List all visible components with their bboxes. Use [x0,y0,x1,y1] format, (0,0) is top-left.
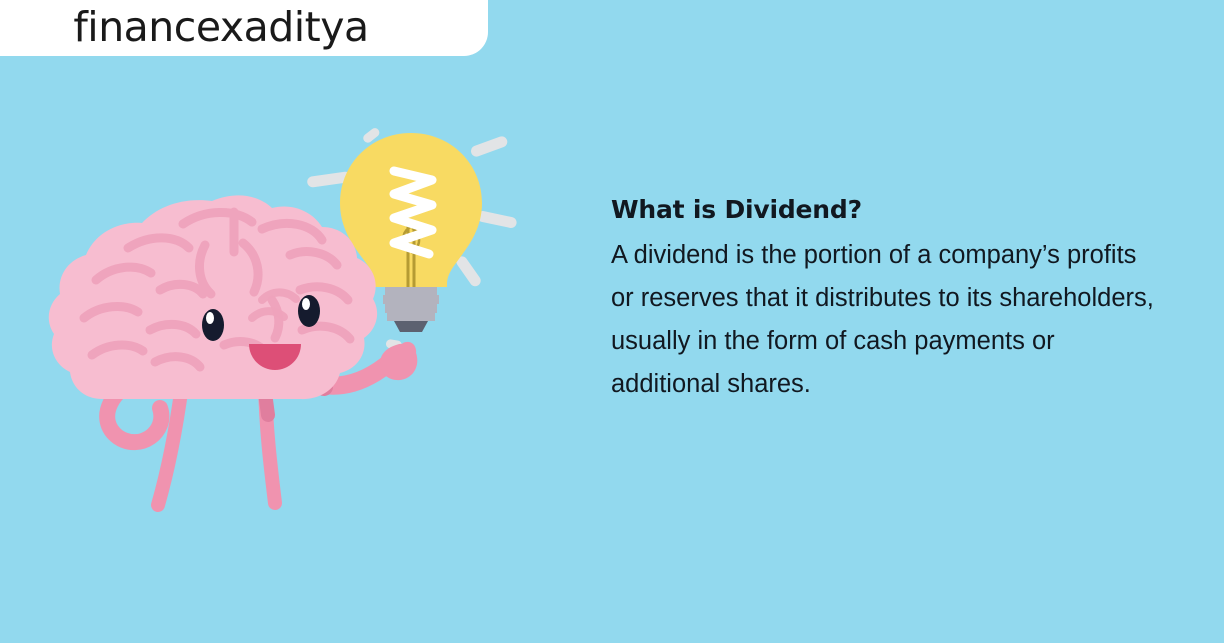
slide-canvas: financexaditya What is Dividend? A divid… [0,0,1224,643]
eye-left [202,309,224,341]
brand-logo-badge: financexaditya [0,0,488,56]
eye-right [298,295,320,327]
illustration-group [0,0,600,560]
page-title: What is Dividend? [611,196,1156,224]
text-content-block: What is Dividend? A dividend is the port… [611,196,1156,406]
body-paragraph: A dividend is the portion of a company’s… [611,234,1156,406]
brand-logo-text: financexaditya [73,7,384,54]
